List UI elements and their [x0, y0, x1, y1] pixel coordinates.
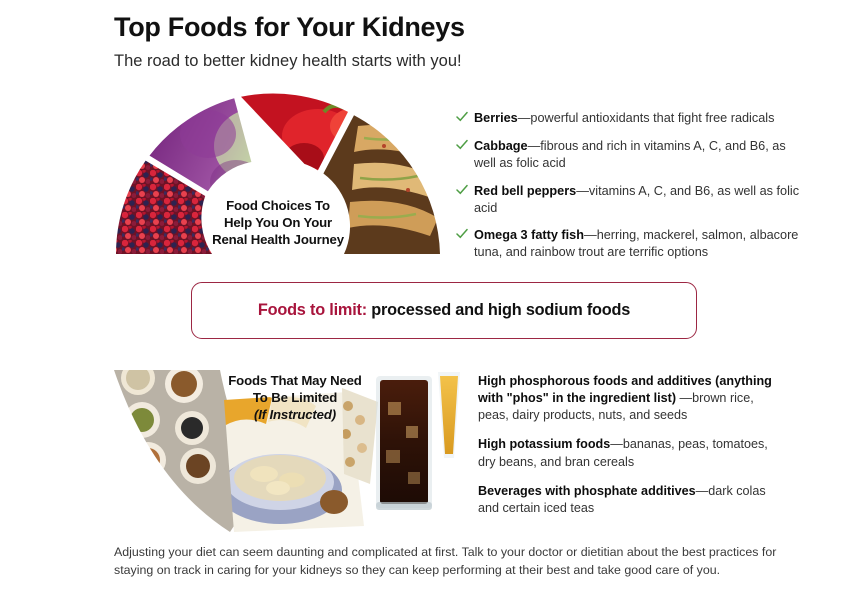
- check-icon: [456, 111, 468, 123]
- banner-accent-text: Foods to limit:: [258, 301, 367, 319]
- fan-caption-line-2: Help You On Your: [176, 215, 380, 232]
- juice-glass: [438, 372, 460, 458]
- list-item: Omega 3 fatty fish—herring, mackerel, sa…: [456, 227, 804, 261]
- list-item: Red bell peppers—vitamins A, C, and B6, …: [456, 183, 804, 217]
- check-icon: [456, 184, 468, 196]
- list-item-lead: Red bell peppers: [474, 184, 576, 198]
- check-icon: [456, 228, 468, 240]
- fan-caption-line-1: Food Choices To: [176, 198, 380, 215]
- collage-caption-line-3: (If Instructed): [200, 406, 390, 423]
- collage-caption: Foods That May Need To Be Limited (If In…: [200, 372, 390, 423]
- list-item: Beverages with phosphate additives—dark …: [478, 483, 778, 517]
- kidney-friendly-foods-list: Berries—powerful antioxidants that fight…: [456, 110, 804, 261]
- infographic-page: Top Foods for Your Kidneys The road to b…: [0, 0, 850, 608]
- fan-caption-line-3: Renal Health Journey: [176, 232, 380, 249]
- check-icon: [456, 139, 468, 151]
- foods-to-limit-list: High phosphorous foods and additives (an…: [478, 373, 778, 517]
- collage-caption-line-1: Foods That May Need: [200, 372, 390, 389]
- list-item-body: powerful antioxidants that fight free ra…: [530, 111, 774, 125]
- list-item: Cabbage—fibrous and rich in vitamins A, …: [456, 138, 804, 172]
- fan-caption: Food Choices To Help You On Your Renal H…: [176, 198, 380, 249]
- limited-food-collage: Foods That May Need To Be Limited (If In…: [112, 362, 460, 534]
- list-item-lead: Beverages with phosphate additives: [478, 484, 696, 498]
- list-item: High phosphorous foods and additives (an…: [478, 373, 778, 424]
- list-item-dash: —: [584, 228, 597, 242]
- list-item-lead: Omega 3 fatty fish: [474, 228, 584, 242]
- page-title: Top Foods for Your Kidneys: [114, 12, 814, 43]
- footer-note: Adjusting your diet can seem daunting an…: [114, 544, 782, 580]
- list-item-dash: —: [696, 484, 709, 498]
- list-item-lead: High potassium foods: [478, 437, 610, 451]
- list-item-dash: —: [528, 139, 541, 153]
- foods-to-limit-banner: Foods to limit: processed and high sodiu…: [191, 282, 697, 339]
- list-item-lead: Cabbage: [474, 139, 528, 153]
- top-food-collage: Food Choices To Help You On Your Renal H…: [108, 86, 448, 254]
- list-item-dash: —: [680, 391, 693, 405]
- collage-caption-line-2: To Be Limited: [200, 389, 390, 406]
- banner-text: Foods to limit: processed and high sodiu…: [258, 301, 630, 320]
- banner-rest-text: processed and high sodium foods: [371, 301, 630, 319]
- page-subtitle: The road to better kidney health starts …: [114, 52, 814, 72]
- list-item: Berries—powerful antioxidants that fight…: [456, 110, 804, 127]
- list-item-dash: —: [518, 111, 531, 125]
- list-item: High potassium foods—bananas, peas, toma…: [478, 436, 778, 470]
- list-item-dash: —: [576, 184, 589, 198]
- header: Top Foods for Your Kidneys The road to b…: [114, 12, 814, 72]
- list-item-lead: Berries: [474, 111, 518, 125]
- list-item-dash: —: [610, 437, 623, 451]
